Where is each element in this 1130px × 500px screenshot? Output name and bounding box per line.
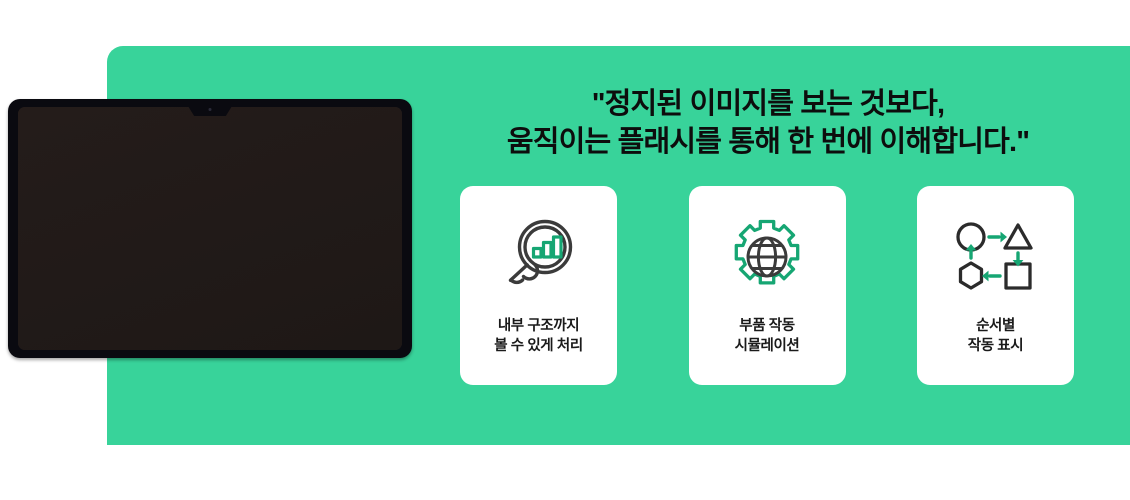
tablet-screen-surface — [18, 107, 402, 350]
feature-card-label: 내부 구조까지 볼 수 있게 처리 — [494, 316, 583, 356]
headline-quote: "정지된 이미지를 보는 것보다, 움직이는 플래시를 통해 한 번에 이해합니… — [460, 86, 1076, 161]
gear-globe-icon — [724, 212, 810, 302]
tablet-screen — [18, 107, 402, 350]
camera-notch-icon — [188, 107, 232, 116]
tablet-device-mockup — [8, 99, 412, 358]
promo-banner: "정지된 이미지를 보는 것보다, 움직이는 플래시를 통해 한 번에 이해합니… — [0, 0, 1130, 500]
feature-card-label: 순서별 작동 표시 — [968, 316, 1023, 356]
front-camera-icon — [209, 108, 212, 111]
feature-card-sequence-display[interactable]: 순서별 작동 표시 — [917, 186, 1074, 385]
feature-card-internal-structure[interactable]: 내부 구조까지 볼 수 있게 처리 — [460, 186, 617, 385]
feature-card-part-simulation[interactable]: 부품 작동 시뮬레이션 — [689, 186, 846, 385]
feature-card-list: 내부 구조까지 볼 수 있게 처리 부품 작동 시뮬레이션 — [460, 186, 1074, 385]
shape-sequence-cycle-icon — [948, 212, 1044, 302]
feature-card-label: 부품 작동 시뮬레이션 — [735, 316, 800, 356]
magnifier-bar-chart-icon — [496, 212, 582, 302]
